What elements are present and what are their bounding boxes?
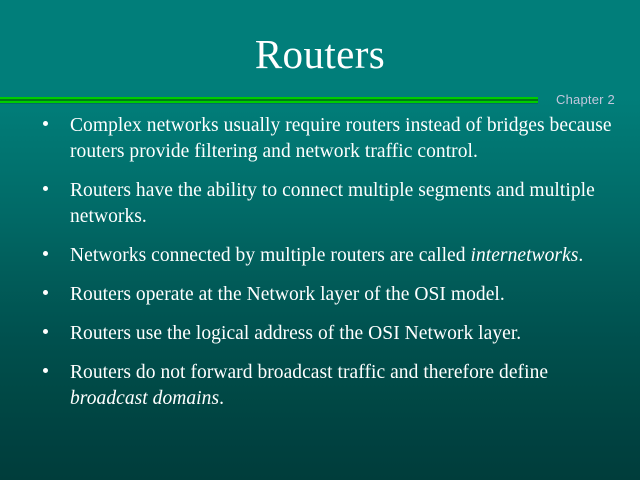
bullet-item: Networks connected by multiple routers a… [0,243,640,269]
bullet-item: Routers operate at the Network layer of … [0,282,640,308]
bullet-text: Routers operate at the Network layer of … [70,282,612,308]
chapter-label: Chapter 2 [556,92,615,108]
bullet-text: Complex networks usually require routers… [70,113,612,165]
bullet-dot-icon [43,290,48,295]
bullet-dot-icon [43,368,48,373]
text-run: Routers have the ability to connect mult… [70,180,595,227]
emphasized-term: broadcast domains [70,388,219,409]
presentation-slide: Routers Chapter 2 Complex networks usual… [0,0,640,480]
bullet-text: Routers use the logical address of the O… [70,321,612,347]
text-run: Routers do not forward broadcast traffic… [70,362,548,383]
text-run: Networks connected by multiple routers a… [70,245,470,266]
text-run: . [219,388,224,409]
bullet-item: Routers use the logical address of the O… [0,321,640,347]
bullet-dot-icon [43,251,48,256]
text-run: Complex networks usually require routers… [70,115,612,162]
slide-title: Routers [0,30,640,78]
bullet-text: Routers do not forward broadcast traffic… [70,360,612,412]
bullet-item: Routers have the ability to connect mult… [0,178,640,230]
title-divider-rule [0,96,538,106]
emphasized-term: internetworks [470,245,578,266]
text-run: . [578,245,583,266]
bullet-text: Networks connected by multiple routers a… [70,243,612,269]
bullet-dot-icon [43,329,48,334]
text-run: Routers use the logical address of the O… [70,323,521,344]
bullet-dot-icon [43,186,48,191]
rule-line-shadow [0,103,538,104]
bullet-list: Complex networks usually require routers… [0,113,640,425]
bullet-item: Complex networks usually require routers… [0,113,640,165]
bullet-text: Routers have the ability to connect mult… [70,178,612,230]
bullet-item: Routers do not forward broadcast traffic… [0,360,640,412]
text-run: Routers operate at the Network layer of … [70,284,505,305]
bullet-dot-icon [43,121,48,126]
